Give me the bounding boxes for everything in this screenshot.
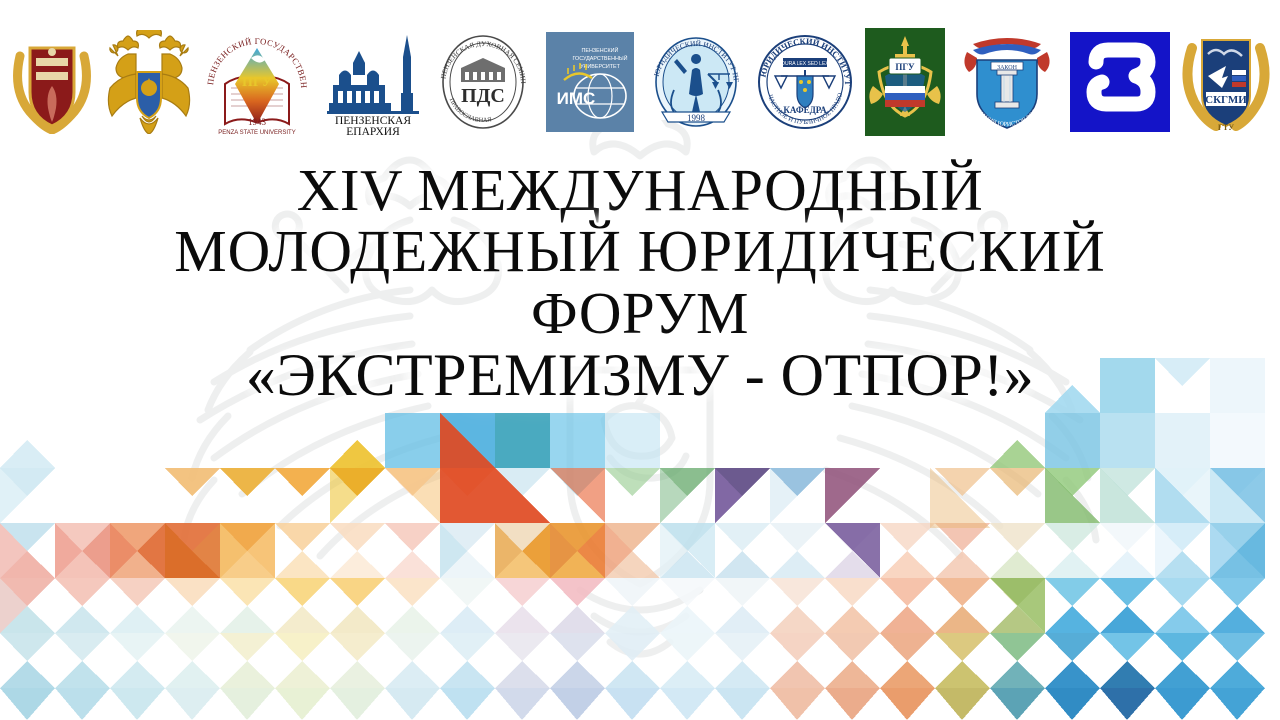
svg-text:ГТУ: ГТУ bbox=[1218, 123, 1234, 132]
logo-penza-eparchy-emblem: ПЕНЗЕНСКАЯ ЕПАРХИЯ bbox=[321, 28, 425, 136]
svg-text:1943: 1943 bbox=[248, 117, 267, 127]
svg-text:СКГМИ: СКГМИ bbox=[1205, 94, 1247, 106]
svg-text:ПГУ: ПГУ bbox=[242, 75, 272, 90]
logo-zakon-z-logo bbox=[1070, 28, 1170, 136]
forum-title-block: XIV МЕЖДУНАРОДНЫЙ МОЛОДЕЖНЫЙ ЮРИДИЧЕСКИЙ… bbox=[0, 160, 1280, 406]
svg-text:ИМС: ИМС bbox=[556, 89, 595, 108]
svg-text:КАФЕДРА: КАФЕДРА bbox=[783, 105, 827, 115]
title-line-4: «ЭКСТРЕМИЗМУ - ОТПОР!» bbox=[0, 344, 1280, 406]
svg-text:ЕПАРХИЯ: ЕПАРХИЯ bbox=[346, 126, 400, 135]
logo-penza-theological-seminary-emblem: ПЕНЗЕНСКАЯ ДУХОВНАЯ СЕМИНАРИЯ ПРАВОСЛАВН… bbox=[435, 28, 531, 136]
svg-text:ПГУ: ПГУ bbox=[895, 62, 915, 72]
logo-association-of-lawyers-russia-emblem: ЗАКОН АССОЦИАЦИЯ ЮРИСТОВ РОССИИ bbox=[955, 28, 1059, 136]
title-line-3: ФОРУМ bbox=[0, 283, 1280, 344]
logo-skgmi-gtu-emblem: СКГМИ ГТУ bbox=[1180, 28, 1272, 136]
logo-ims-institute-emblem: ПЕНЗЕНСКИЙ ГОСУДАРСТВЕННЫЙ УНИВЕРСИТЕТ И… bbox=[542, 28, 638, 136]
poster-canvas: ПЕНЗЕНСКИЙ ГОСУДАРСТВЕННЫЙ УНИВЕРСИТЕТ П… bbox=[0, 0, 1280, 720]
title-line-1: XIV МЕЖДУНАРОДНЫЙ bbox=[0, 160, 1280, 221]
logo-private-public-law-department-emblem: ЮРИДИЧЕСКИЙ ИНСТИТУТ ЧАСТНОЕ И ПУБЛИЧНОЕ… bbox=[755, 28, 855, 136]
title-line-2: МОЛОДЕЖНЫЙ ЮРИДИЧЕСКИЙ bbox=[0, 221, 1280, 282]
svg-text:1998: 1998 bbox=[687, 113, 706, 123]
eagle-watermark-icon bbox=[110, 120, 1170, 720]
logo-russia-double-headed-eagle-emblem bbox=[106, 28, 192, 136]
partner-logo-strip: ПЕНЗЕНСКИЙ ГОСУДАРСТВЕННЫЙ УНИВЕРСИТЕТ П… bbox=[0, 26, 1280, 138]
svg-text:ГОСУДАРСТВЕННЫЙ: ГОСУДАРСТВЕННЫЙ bbox=[572, 54, 627, 62]
svg-text:PENZA STATE UNIVERSITY: PENZA STATE UNIVERSITY bbox=[218, 130, 295, 136]
svg-text:ПЕНЗЕНСКИЙ: ПЕНЗЕНСКИЙ bbox=[581, 46, 618, 54]
logo-prosecutor-shield-emblem bbox=[8, 28, 96, 136]
svg-text:ПДС: ПДС bbox=[462, 85, 506, 107]
svg-text:DURA LEX SED LEX: DURA LEX SED LEX bbox=[781, 61, 829, 67]
logo-penza-state-university-emblem: ПЕНЗЕНСКИЙ ГОСУДАРСТВЕННЫЙ УНИВЕРСИТЕТ П… bbox=[203, 28, 311, 136]
logo-law-institute-pgu-emblem: ЮРИДИЧЕСКИЙ ИНСТИТУТ ПГУ 1998 bbox=[648, 28, 744, 136]
logo-military-training-center-emblem: ПГУ bbox=[865, 28, 945, 136]
